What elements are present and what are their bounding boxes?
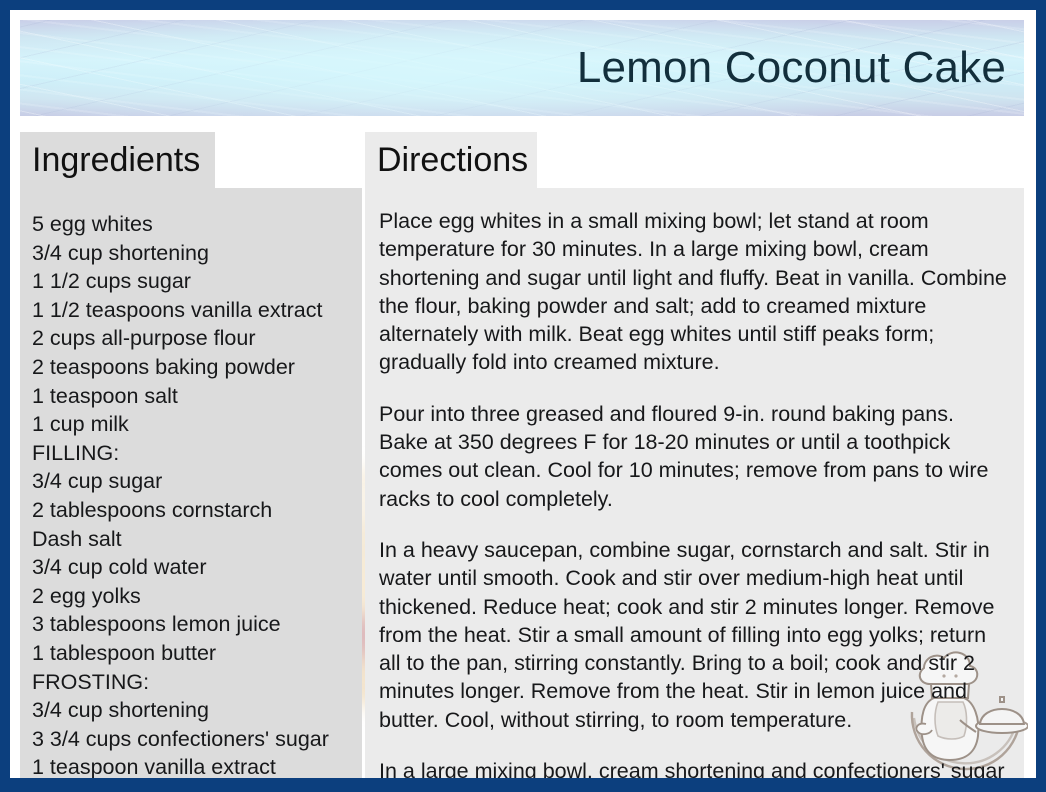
ingredient-item: 3 3/4 cups confectioners' sugar (32, 725, 352, 754)
ingredient-item: 3/4 cup sugar (32, 467, 352, 496)
recipe-title: Lemon Coconut Cake (577, 46, 1006, 90)
direction-step: Place egg whites in a small mixing bowl;… (379, 207, 1008, 377)
ingredients-list: 5 egg whites3/4 cup shortening1 1/2 cups… (20, 188, 362, 778)
tab-ingredients[interactable]: Ingredients (20, 132, 215, 188)
ingredient-item: 2 egg yolks (32, 582, 352, 611)
ingredient-item: 1 1/2 teaspoons vanilla extract (32, 296, 352, 325)
ingredient-item: 1 teaspoon vanilla extract (32, 753, 352, 778)
ingredient-item: 3 tablespoons lemon juice (32, 610, 352, 639)
direction-step: Pour into three greased and floured 9-in… (379, 400, 1008, 513)
recipe-page: Lemon Coconut Cake (10, 10, 1036, 778)
ingredient-item: 1 1/2 cups sugar (32, 267, 352, 296)
ingredient-item: FROSTING: (32, 668, 352, 697)
ingredient-item: FILLING: (32, 439, 352, 468)
header-banner: Lemon Coconut Cake (20, 20, 1024, 116)
tab-directions[interactable]: Directions (365, 132, 537, 188)
ingredient-item: 2 cups all-purpose flour (32, 324, 352, 353)
ingredient-item: 2 tablespoons cornstarch (32, 496, 352, 525)
ingredient-item: 3/4 cup cold water (32, 553, 352, 582)
directions-steps: Place egg whites in a small mixing bowl;… (365, 188, 1024, 778)
ingredient-item: 5 egg whites (32, 210, 352, 239)
ingredient-item: 1 tablespoon butter (32, 639, 352, 668)
recipe-card: Lemon Coconut Cake (0, 0, 1046, 792)
direction-step: In a large mixing bowl, cream shortening… (379, 757, 1008, 778)
ingredients-panel: 5 egg whites3/4 cup shortening1 1/2 cups… (20, 188, 362, 778)
ingredient-item: Dash salt (32, 525, 352, 554)
directions-panel: Place egg whites in a small mixing bowl;… (365, 188, 1024, 778)
ingredient-item: 1 cup milk (32, 410, 352, 439)
ingredient-item: 3/4 cup shortening (32, 239, 352, 268)
ingredient-item: 2 teaspoons baking powder (32, 353, 352, 382)
ingredient-item: 1 teaspoon salt (32, 382, 352, 411)
ingredient-item: 3/4 cup shortening (32, 696, 352, 725)
direction-step: In a heavy saucepan, combine sugar, corn… (379, 536, 1008, 734)
